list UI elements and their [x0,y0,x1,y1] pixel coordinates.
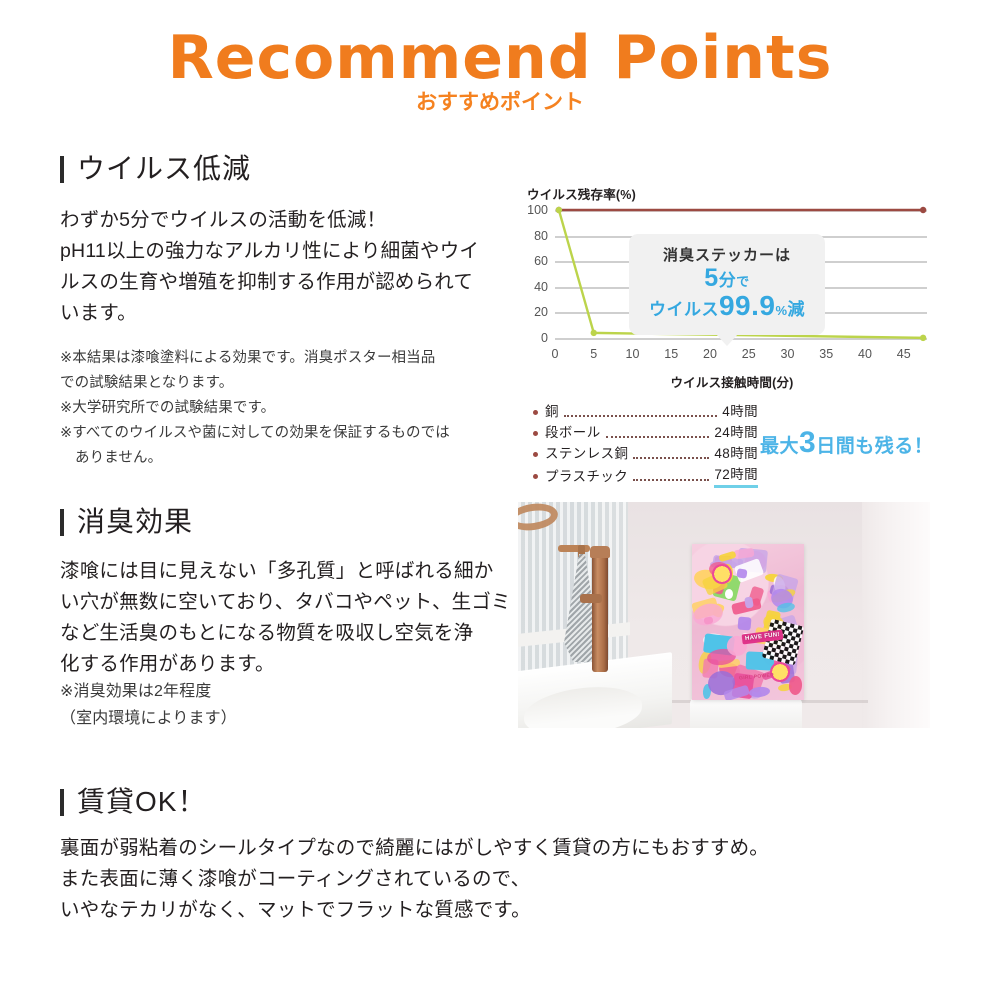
chart-x-tick: 25 [742,347,756,361]
page-subtitle: おすすめポイント [0,90,1000,116]
bullet-icon [533,452,538,457]
callout-minutes-tail: で [736,274,750,289]
heading-accent-bar [60,156,64,183]
body-line: ルスの生育や増殖を抑制する作用が認められて [60,267,515,298]
section-heading-label: 賃貸OK！ [77,785,206,819]
chart-x-tick: 0 [552,347,559,361]
bathroom-sticker-photo: HAVE FUN! GIRL POWER [518,502,930,728]
body-line: わずか5分でウイルスの活動を低減！ [60,205,515,236]
legend-row: 段ボール 24時間 [533,423,758,443]
chart-x-tick: 40 [858,347,872,361]
chart-x-tick: 5 [590,347,597,361]
section-heading-deodorizing: 消臭効果 [60,505,193,539]
chart-x-tick: 45 [897,347,911,361]
section-notes-virus-reduction: ※本結果は漆喰塗料による効果です。消臭ポスター相当品 での試験結果となります。 … [60,346,520,471]
chart-y-tick: 60 [534,254,548,268]
legend-material: ステンレス銅 [545,444,628,464]
chart-x-tick: 15 [664,347,678,361]
note-line: ※消臭効果は2年程度 [60,678,460,705]
chart-callout-bubble: 消臭ステッカーは 5分で ウイルス99.9%減 [629,234,825,335]
legend-material: 段ボール [545,423,601,443]
legend-duration: 24時間 [714,423,758,443]
chart-y-tick: 20 [534,305,548,319]
callout-percent-number: 99.9 [719,290,776,321]
legend-material: プラスチック [545,467,628,487]
survival-time-legend: 銅 4時間 段ボール 24時間 ステンレス銅 48時間 プラスチック 72時間 [533,402,758,489]
callout-reduce-word: 減 [788,300,806,319]
section-body-virus-reduction: わずか5分でウイルスの活動を低減！ pH11以上の強力なアルカリ性により細菌やウ… [60,205,515,329]
section-body-rental-ok: 裏面が弱粘着のシールタイプなので綺麗にはがしやすく賃貸の方にもおすすめ。 また表… [60,833,860,926]
body-line: 漆喰には目に見えない「多孔質」と呼ばれる細か [60,556,520,587]
dot-leader [564,408,717,417]
note-line: ありません。 [60,446,520,471]
section-body-deodorizing: 漆喰には目に見えない「多孔質」と呼ばれる細か い穴が無数に空いており、タバコやペ… [60,556,520,680]
photo-toilet-tank [690,698,802,728]
legend-duration: 4時間 [722,402,758,422]
sticker-poster: HAVE FUN! GIRL POWER [692,544,804,700]
heading-accent-bar [60,789,64,816]
chart-x-tick: 20 [703,347,717,361]
note-line: ※本結果は漆喰塗料による効果です。消臭ポスター相当品 [60,346,520,371]
chart-y-tick: 80 [534,229,548,243]
dot-leader [606,429,710,438]
body-line: pH11以上の強力なアルカリ性により細菌やウイ [60,236,515,267]
dot-leader [633,450,709,459]
body-line: い穴が無数に空いており、タバコやペット、生ゴミ [60,587,520,618]
callout-line-1: 消臭ステッカーは [637,244,817,265]
section-heading-virus-reduction: ウイルス低減 [60,152,251,186]
callout-percent-sign: % [775,303,787,318]
section-heading-rental-ok: 賃貸OK！ [60,785,206,819]
photo-faucet-top [590,546,610,558]
body-line: など生活臭のもとになる物質を吸収し空気を浄 [60,618,520,649]
poster-smiley-sticker [712,564,732,584]
gridline [555,338,927,340]
photo-faucet [592,554,608,672]
callout-minutes-number: 5 [704,264,718,292]
virus-survival-chart: ウイルス残存率(%) 100 80 60 40 20 0 0 5 10 15 2… [527,184,937,389]
chart-y-tick: 100 [527,203,548,217]
note-line: ※大学研究所での試験結果です。 [60,396,520,421]
legend-row: ステンレス銅 48時間 [533,444,758,464]
chart-x-tick: 30 [781,347,795,361]
bullet-icon [533,410,538,415]
callout-line-3: ウイルス99.9%減 [637,294,817,323]
photo-faucet-lever [580,594,602,603]
heading-accent-bar [60,509,64,536]
callout-minutes-unit: 分 [719,271,737,290]
body-line: 裏面が弱粘着のシールタイプなので綺麗にはがしやすく賃貸の方にもおすすめ。 [60,833,860,864]
callout-virus-word: ウイルス [649,300,719,319]
chart-y-tick: 0 [541,331,548,345]
legend-duration-highlighted: 72時間 [714,465,758,488]
max-days-badge: 最大3日間も残る！ [760,430,933,460]
section-notes-deodorizing: ※消臭効果は2年程度 （室内環境によります） [60,678,460,732]
dot-leader [633,472,709,481]
chart-y-axis-label: ウイルス残存率(%) [527,184,636,203]
body-line: いやなテカリがなく、マットでフラットな質感です。 [60,895,860,926]
page-root: Recommend Points おすすめポイント ウイルス低減 わずか5分でウ… [0,0,1000,1000]
photo-towel-hook [558,545,590,552]
chart-x-axis-label: ウイルス接触時間(分) [527,372,937,391]
legend-row: 銅 4時間 [533,402,758,422]
body-line: 化する作用があります。 [60,649,520,680]
poster-sticker [725,588,733,598]
poster-sticker [737,568,748,578]
legend-duration: 48時間 [714,444,758,464]
chart-y-tick: 40 [534,280,548,294]
chart-x-tick: 10 [626,347,640,361]
section-heading-label: ウイルス低減 [77,152,251,186]
legend-material: 銅 [545,402,559,422]
bullet-icon [533,474,538,479]
badge-number: 3 [799,426,816,459]
badge-prefix: 最大 [760,436,799,457]
page-title: Recommend Points [0,26,1000,90]
note-line: ※すべてのウイルスや菌に対しての効果を保証するものでは [60,421,520,446]
chart-x-tick: 35 [819,347,833,361]
note-line: での試験結果となります。 [60,371,520,396]
photo-wall-right [862,502,930,728]
poster-sticker [738,617,752,631]
legend-row: プラスチック 72時間 [533,465,758,488]
bullet-icon [533,431,538,436]
section-heading-label: 消臭効果 [77,505,193,539]
body-line: います。 [60,298,515,329]
badge-suffix: 日間も残る！ [816,436,933,457]
body-line: また表面に薄く漆喰がコーティングされているので、 [60,864,860,895]
note-line: （室内環境によります） [60,705,460,732]
poster-sticker [744,596,754,609]
